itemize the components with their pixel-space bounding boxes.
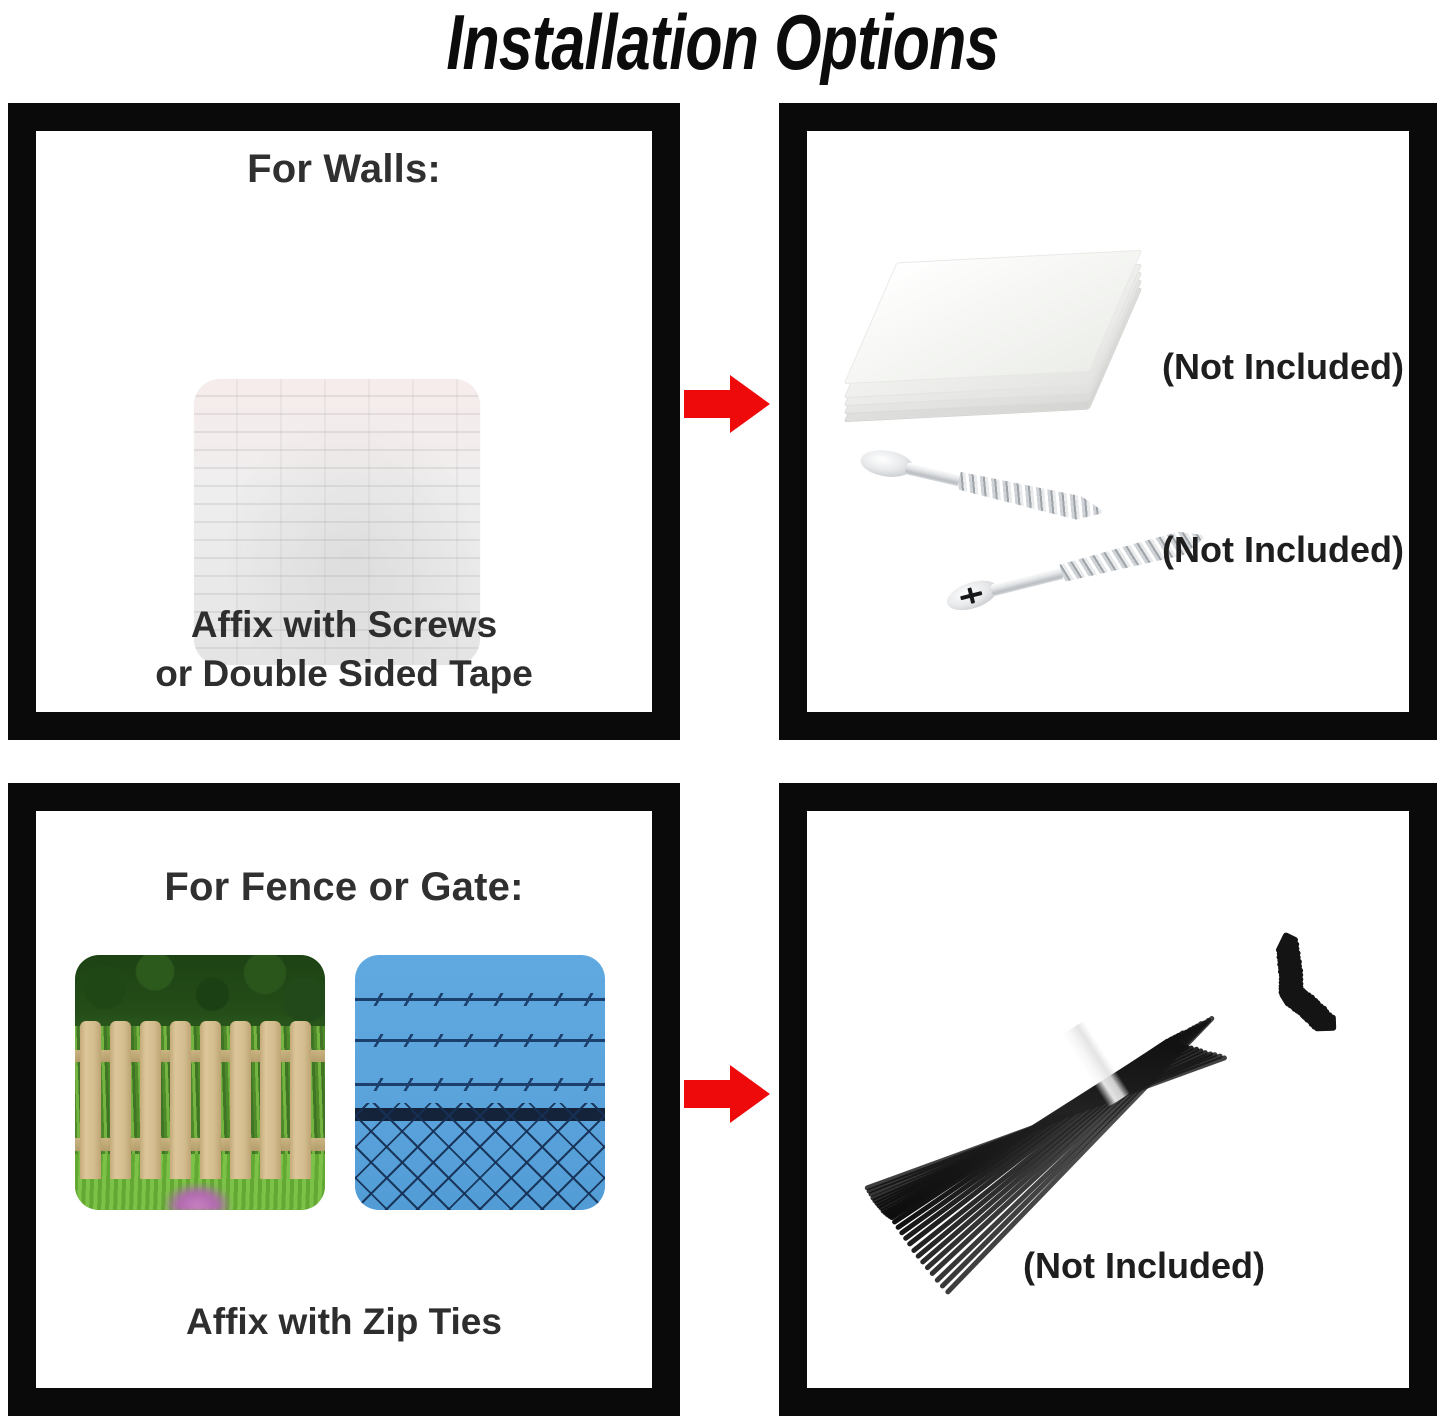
panel-wall-hardware-content: (Not Included) (Not Included) (807, 131, 1409, 712)
panel-zip-ties-content: (Not Included) (807, 811, 1409, 1388)
panel-zip-ties: (Not Included) (779, 783, 1437, 1416)
for-fence-heading: For Fence or Gate: (36, 865, 652, 910)
wood-screws-image (807, 131, 1409, 712)
for-walls-caption-line-2: or Double Sided Tape (36, 650, 652, 699)
for-walls-heading: For Walls: (36, 147, 652, 192)
panel-wall-hardware: (Not Included) (Not Included) (779, 103, 1437, 740)
panel-for-fence-or-gate: For Fence or Gate: (8, 783, 680, 1416)
panel-for-walls: For Walls: Affix with Screws or Double S… (8, 103, 680, 740)
zipties-not-included-label: (Not Included) (1023, 1245, 1265, 1287)
screw-upper (858, 445, 1117, 529)
screws-not-included-label: (Not Included) (1162, 529, 1404, 571)
zip-tie-bundle-image (845, 895, 1275, 1255)
for-walls-caption-line-1: Affix with Screws (36, 601, 652, 650)
for-walls-caption: Affix with Screws or Double Sided Tape (36, 601, 652, 699)
picket-fence-photo (75, 955, 325, 1210)
red-right-arrow-icon (684, 373, 770, 435)
page-title: Installation Options (159, 0, 1286, 88)
red-right-arrow-icon (684, 1063, 770, 1125)
chain-link-fence-photo (355, 955, 605, 1210)
panel-for-fence-content: For Fence or Gate: (36, 811, 652, 1388)
panel-for-walls-content: For Walls: Affix with Screws or Double S… (36, 131, 652, 712)
zip-tie-head (1313, 1015, 1336, 1032)
for-fence-caption: Affix with Zip Ties (36, 1298, 652, 1347)
